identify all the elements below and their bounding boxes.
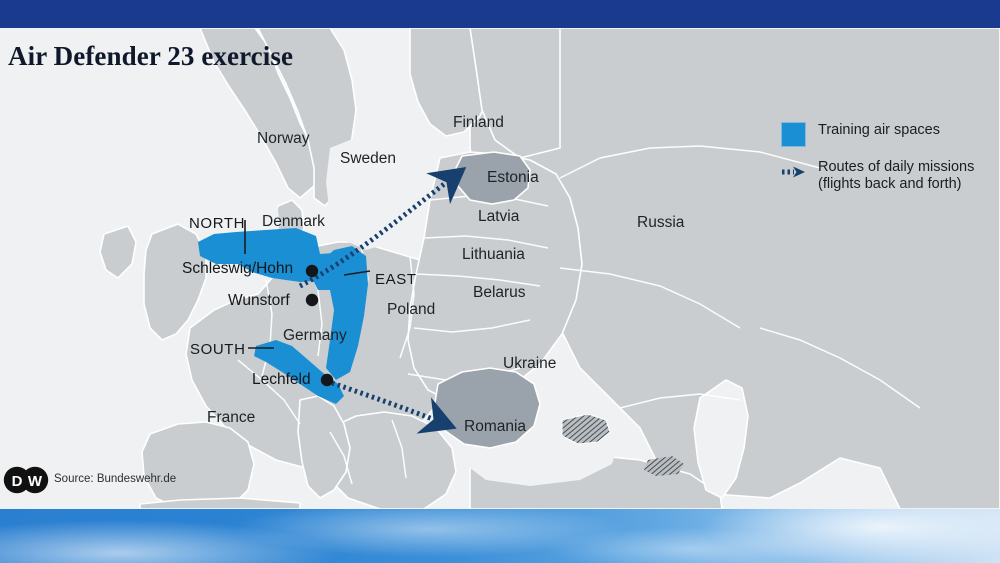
legend-label-routes-line1: Routes of daily missions (818, 159, 974, 176)
sky-band-bottom (0, 509, 1000, 563)
europe-map (0, 28, 1000, 509)
graphic-panel: Norway Sweden Finland Denmark Estonia La… (0, 28, 1000, 509)
legend: Training air spaces Routes of daily miss… (781, 122, 996, 204)
dashed-arrow-icon (781, 165, 806, 183)
page-title: Air Defender 23 exercise (8, 41, 293, 72)
svg-text:W: W (28, 473, 43, 490)
legend-label-routes-line2: (flights back and forth) (818, 176, 974, 193)
legend-item-training-air-spaces: Training air spaces (781, 122, 996, 147)
source-attribution: Source: Bundeswehr.de (54, 473, 176, 485)
city-dot-lechfeld (321, 374, 333, 386)
legend-label-training-air-spaces: Training air spaces (818, 122, 940, 139)
country-estonia-highlight (456, 152, 530, 204)
legend-label-routes-wrap: Routes of daily missions (flights back a… (818, 159, 974, 192)
city-dot-wunstorf (306, 294, 318, 306)
blue-square-icon (781, 122, 806, 147)
dw-logo: D W (3, 466, 49, 499)
city-dot-schleswig-hohn (306, 265, 318, 277)
infographic-root: Norway Sweden Finland Denmark Estonia La… (0, 0, 1000, 563)
svg-text:D: D (12, 473, 23, 490)
sky-band-top (0, 0, 1000, 28)
legend-item-routes: Routes of daily missions (flights back a… (781, 159, 996, 192)
